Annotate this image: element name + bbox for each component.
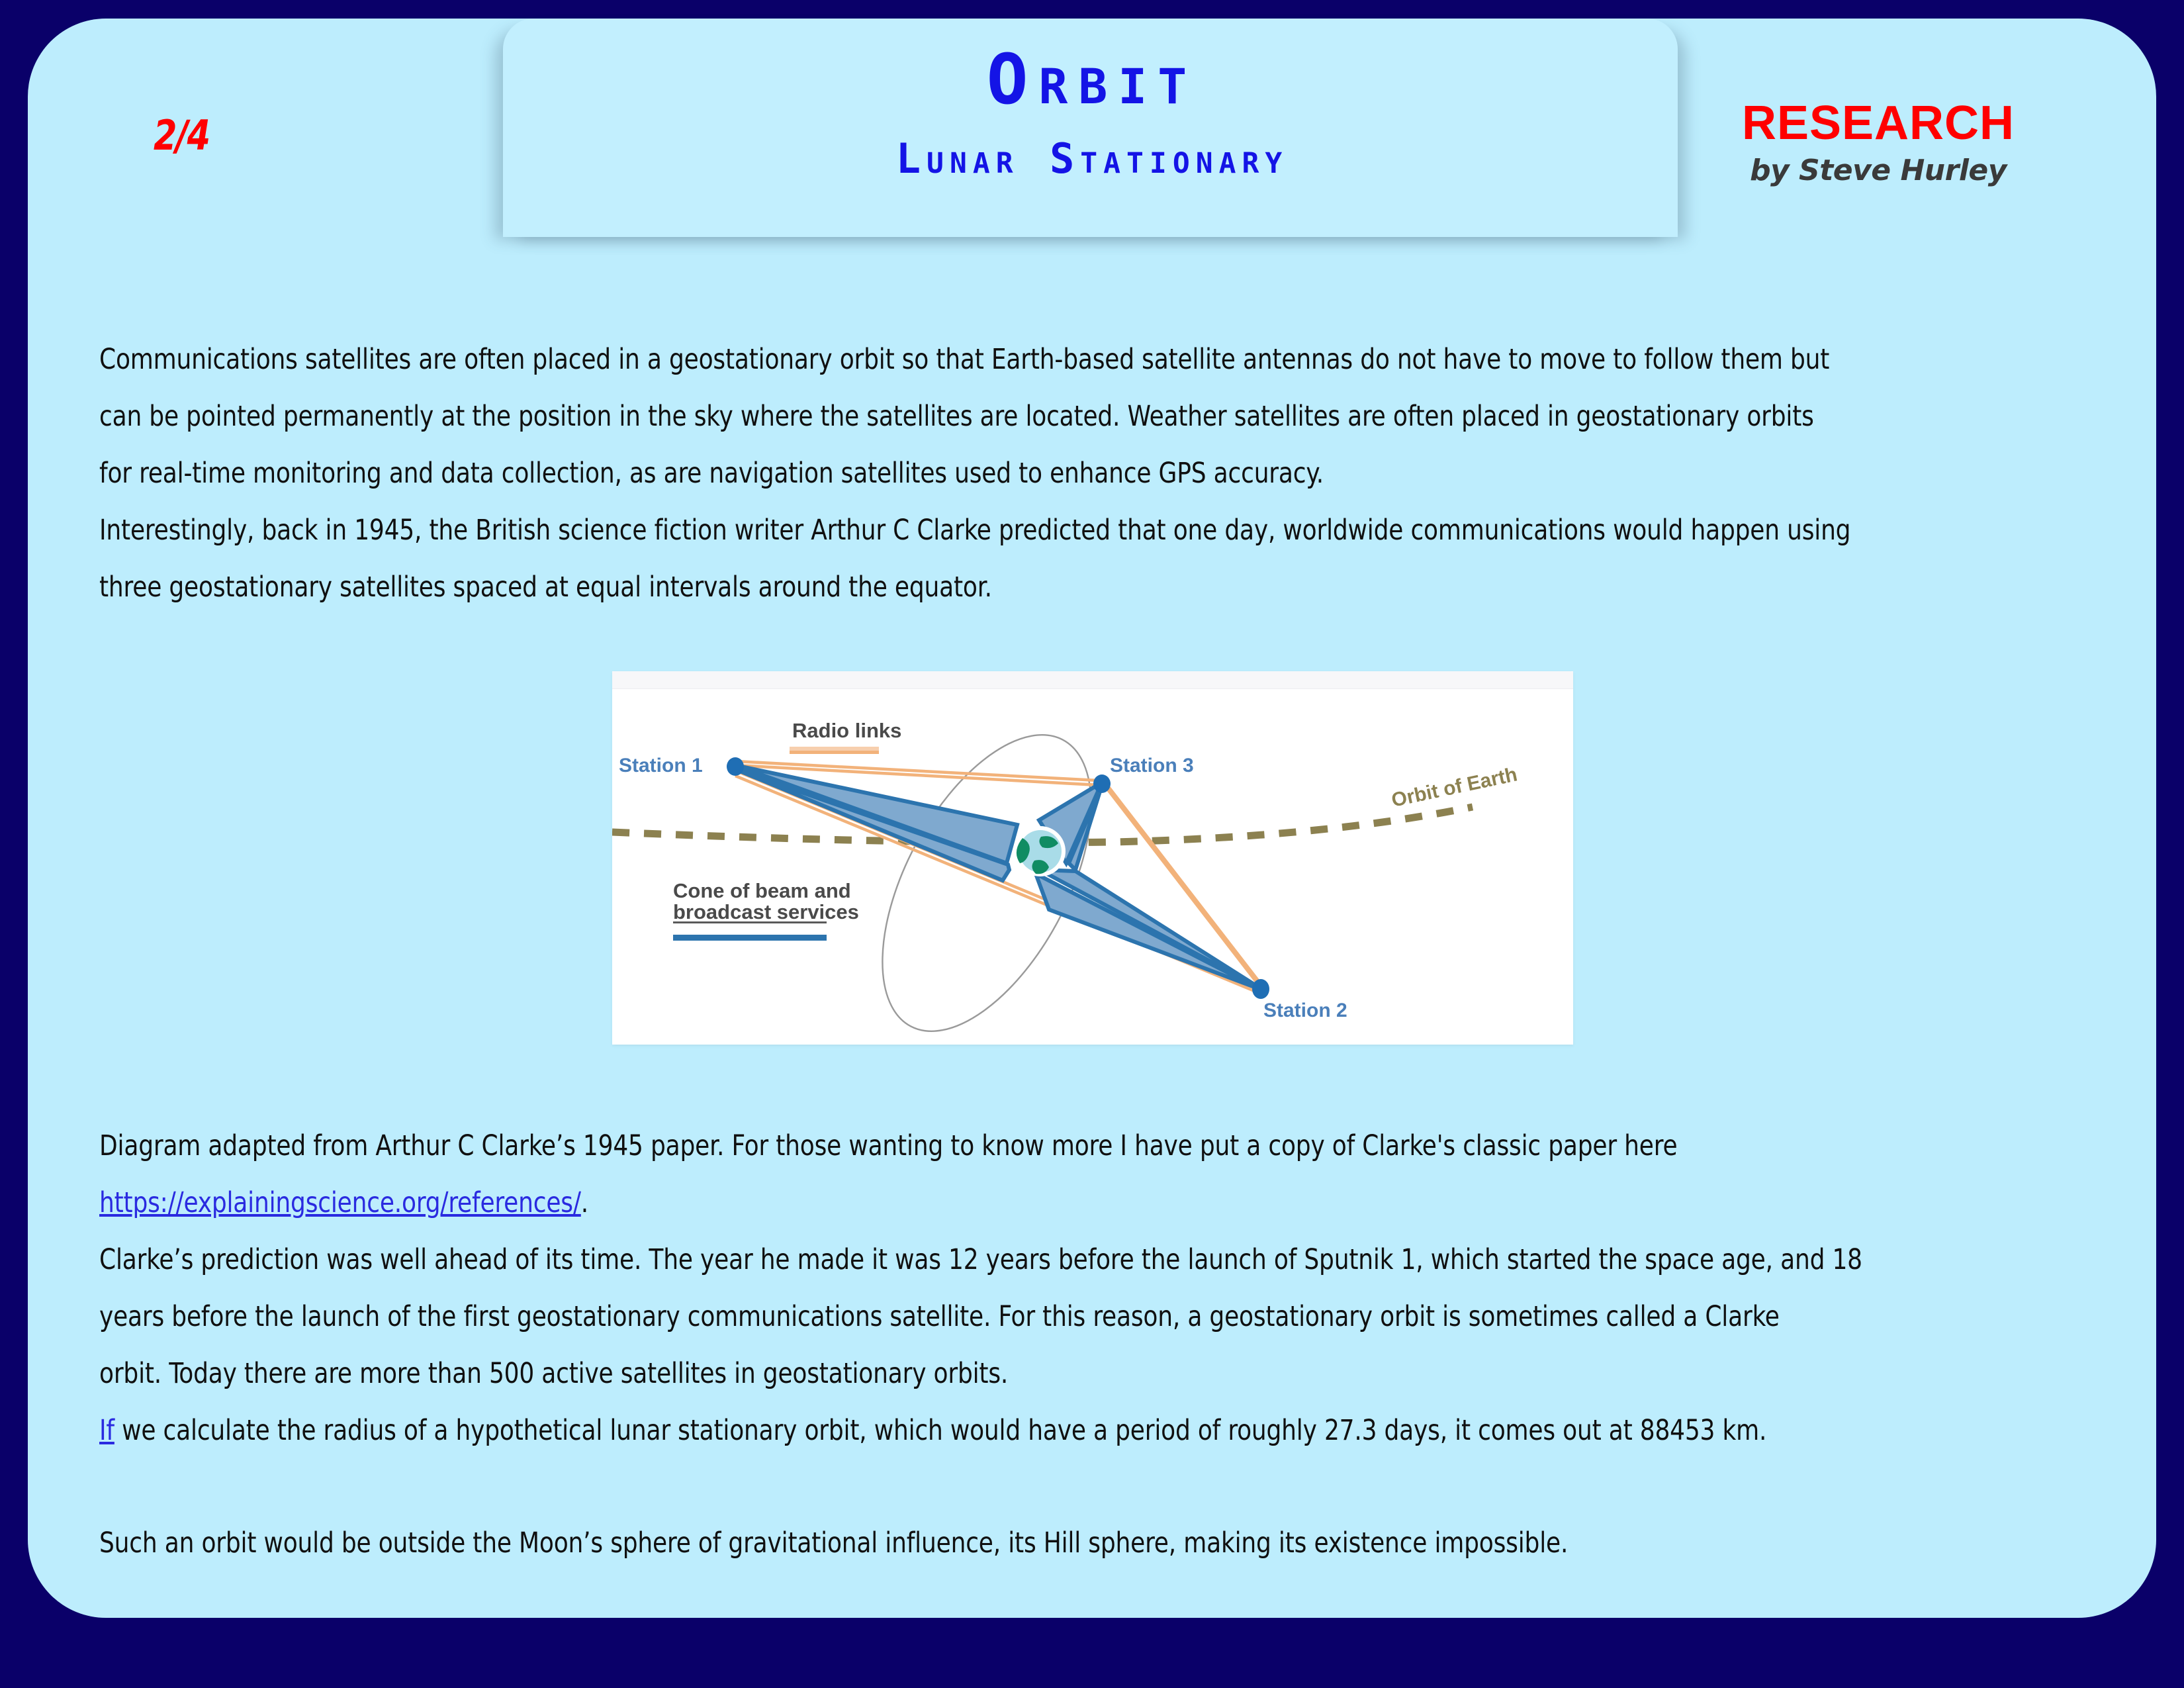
paragraph-3-line-1: Diagram adapted from Arthur C Clarke’s 1… [99,1117,2087,1174]
station-3-dot [1093,774,1111,793]
brand-block: RESEARCH by Steve Hurley [1693,99,2064,185]
clarke-orbit-diagram: Station 1 Station 3 Station 2 Radio link… [612,671,1573,1045]
station-3-label: Station 3 [1110,755,1194,776]
cone-of-beam-label-line1: Cone of beam and [673,879,851,902]
station-2-dot [1252,979,1269,999]
references-link[interactable]: https://explainingscience.org/references… [99,1186,581,1219]
paragraph-5-rest: we calculate the radius of a hypothetica… [114,1414,1766,1447]
paragraph-3-line-2: https://explainingscience.org/references… [99,1174,2087,1231]
paragraph-4-line-2: years before the launch of the first geo… [99,1288,2087,1345]
station-2-label: Station 2 [1263,1000,1347,1021]
references-link-trail: . [581,1186,588,1219]
station-1-dot [727,757,744,776]
beam-cones [735,765,1259,989]
paragraph-1-line-1: Communications satellites are often plac… [99,331,2087,388]
slide-header: 2/4 Orbit Lunar Stationary RESEARCH by S… [28,19,2156,257]
paragraph-spacer [99,1459,2091,1515]
paragraph-5: If we calculate the radius of a hypothet… [99,1402,2087,1459]
cone-of-beam-label-line2: broadcast services [673,900,859,923]
diagram-svg: Station 1 Station 3 Station 2 Radio link… [612,671,1573,1045]
paragraph-2-line-2: three geostationary satellites spaced at… [99,559,2087,616]
paragraph-6: Such an orbit would be outside the Moon’… [99,1515,2087,1571]
paragraph-1-line-3: for real-time monitoring and data collec… [99,445,2087,502]
body-copy: Communications satellites are often plac… [99,331,2091,616]
body-copy-lower: Diagram adapted from Arthur C Clarke’s 1… [99,1117,2091,1571]
paragraph-4-line-3: orbit. Today there are more than 500 act… [99,1345,2087,1402]
paragraph-1-line-2: can be pointed permanently at the positi… [99,388,2087,445]
orbit-of-earth-label: Orbit of Earth [1390,763,1520,811]
radio-links-label: Radio links [792,719,901,742]
station-1-label: Station 1 [619,755,703,776]
radio-links-legend [790,747,879,754]
if-link[interactable]: If [99,1414,114,1447]
cone-legend-underline [673,921,827,941]
paragraph-4-line-1: Clarke’s prediction was well ahead of it… [99,1231,2087,1288]
brand-author: by Steve Hurley [1693,156,2064,185]
brand-title: RESEARCH [1693,99,2064,147]
slide-root: 2/4 Orbit Lunar Stationary RESEARCH by S… [0,0,2184,1688]
earth-globe-icon [1015,826,1066,876]
paragraph-2-line-1: Interestingly, back in 1945, the British… [99,502,2087,559]
